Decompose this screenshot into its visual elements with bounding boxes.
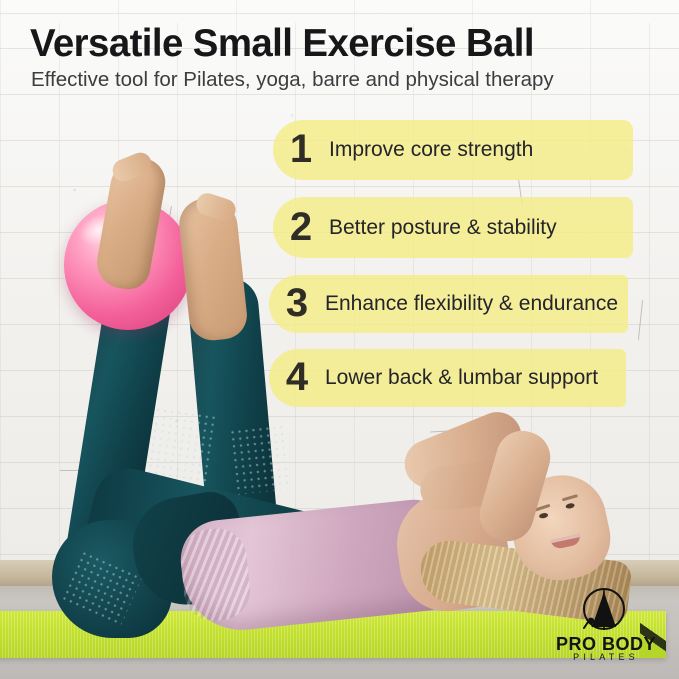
feature-label: Better posture & stability [329, 216, 557, 240]
circle-pilates-figure-icon [575, 586, 633, 636]
feature-number: 1 [273, 129, 329, 169]
feature-number: 2 [273, 207, 329, 247]
page-title: Versatile Small Exercise Ball [30, 22, 534, 66]
feature-item-1[interactable]: 1 Improve core strength [273, 120, 633, 180]
tank-top-ruching [178, 525, 253, 623]
eyebrow [562, 494, 578, 501]
feature-item-2[interactable]: 2 Better posture & stability [273, 197, 633, 258]
eye [565, 503, 575, 510]
feature-label: Lower back & lumbar support [325, 366, 598, 390]
feature-item-3[interactable]: 3 Enhance flexibility & endurance [269, 275, 628, 333]
feature-label: Enhance flexibility & endurance [325, 292, 618, 316]
feature-number: 3 [269, 283, 325, 323]
feature-label: Improve core strength [329, 138, 533, 162]
eye [539, 512, 549, 519]
feature-item-4[interactable]: 4 Lower back & lumbar support [269, 349, 626, 407]
product-infographic: Versatile Small Exercise Ball Effective … [0, 0, 679, 679]
brand-tagline: PILATES [545, 652, 667, 662]
mouth [550, 534, 581, 550]
page-subtitle: Effective tool for Pilates, yoga, barre … [31, 68, 554, 92]
feature-number: 4 [269, 357, 325, 397]
brand-logo: PRO BODY PILATES [545, 586, 667, 664]
